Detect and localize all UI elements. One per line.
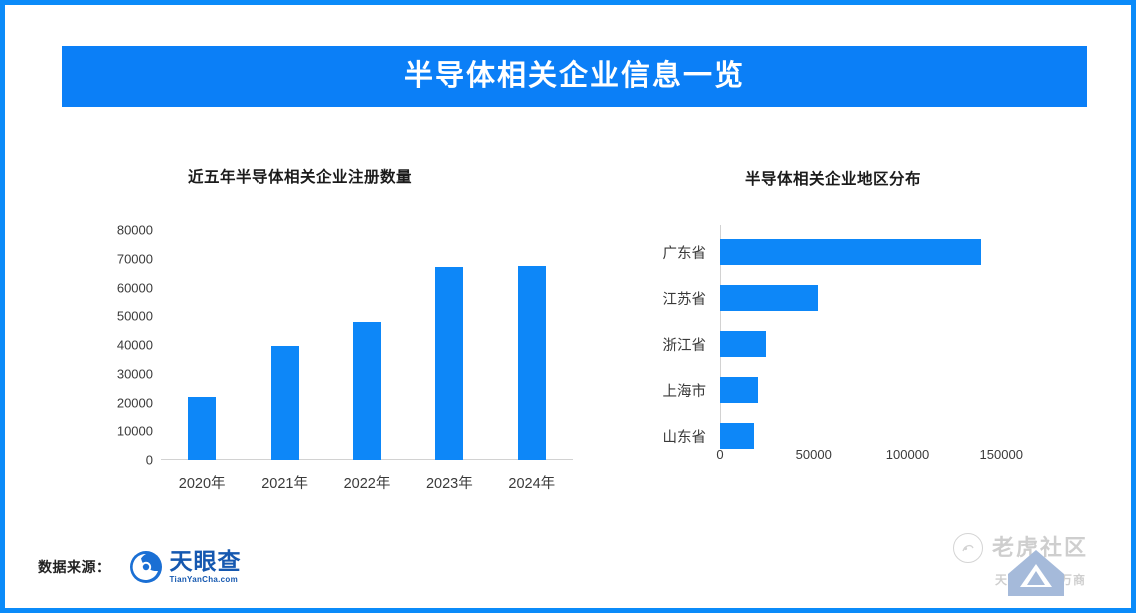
vbar-x-tick-label: 2023年 <box>426 472 473 493</box>
right-chart-title: 半导体相关企业地区分布 <box>745 167 921 189</box>
hbar-row: 上海市 <box>720 377 758 403</box>
vbar-y-tick-label: 40000 <box>117 338 153 353</box>
hbar-x-tick-label: 50000 <box>796 447 832 462</box>
vbar-rect <box>188 397 216 460</box>
hbar-category-label: 上海市 <box>663 380 707 401</box>
vbar-column: 2020年 <box>161 230 243 460</box>
hbar-category-label: 江苏省 <box>663 288 707 309</box>
vbar-column: 2021年 <box>243 230 325 460</box>
infographic-slide: 半导体相关企业信息一览 近五年半导体相关企业注册数量 8000070000600… <box>0 0 1136 613</box>
hbar-row: 山东省 <box>720 423 754 449</box>
vertical-bar-plot-area: 8000070000600005000040000300002000010000… <box>161 230 573 460</box>
tianyancha-name-cn: 天眼查 <box>170 550 242 573</box>
vbar-rect <box>518 266 546 460</box>
vbar-y-tick-label: 30000 <box>117 366 153 381</box>
registration-count-chart-panel: 近五年半导体相关企业注册数量 8000070000600005000040000… <box>65 145 585 505</box>
vbar-column: 2022年 <box>326 230 408 460</box>
page-title: 半导体相关企业信息一览 <box>404 62 745 91</box>
hbar-x-tick-label: 100000 <box>886 447 929 462</box>
vbar-y-tick-label: 70000 <box>117 251 153 266</box>
watermark-badge-icon <box>1005 547 1067 599</box>
vbar-y-tick-label: 10000 <box>117 424 153 439</box>
watermark-circle-icon <box>953 533 983 563</box>
region-distribution-chart-panel: 半导体相关企业地区分布 广东省江苏省浙江省上海市山东省 050000100000… <box>605 145 1085 505</box>
vbar-y-tick-label: 60000 <box>117 280 153 295</box>
vbar-rect <box>353 322 381 460</box>
vbar-rect <box>271 346 299 460</box>
vbar-column: 2023年 <box>408 230 490 460</box>
hbar-rect <box>720 377 758 403</box>
tianyancha-name-en: TianYanCha.com <box>170 576 242 584</box>
vbar-y-tick-label: 20000 <box>117 395 153 410</box>
eye-lens-icon <box>129 550 163 584</box>
hbar-rect <box>720 331 766 357</box>
vbar-x-tick-label: 2021年 <box>261 472 308 493</box>
hbar-row: 浙江省 <box>720 331 766 357</box>
vbar-x-tick-label: 2024年 <box>508 472 555 493</box>
vbar-rect <box>435 267 463 460</box>
hbar-row: 江苏省 <box>720 285 818 311</box>
left-chart-title: 近五年半导体相关企业注册数量 <box>188 165 412 187</box>
vbar-y-tick-label: 80000 <box>117 223 153 238</box>
hbar-rect <box>720 285 818 311</box>
hbar-rect <box>720 239 981 265</box>
tianyancha-wordmark: 天眼查 TianYanCha.com <box>170 550 242 584</box>
title-banner: 半导体相关企业信息一览 <box>62 46 1087 107</box>
horizontal-bar-plot-area: 广东省江苏省浙江省上海市山东省 050000100000150000 <box>720 235 1020 435</box>
hbar-row: 广东省 <box>720 239 981 265</box>
vbar-y-tick-label: 0 <box>146 453 153 468</box>
hbar-category-label: 浙江省 <box>663 334 707 355</box>
hbar-category-label: 广东省 <box>663 242 707 263</box>
vbar-y-tick-label: 50000 <box>117 309 153 324</box>
vbar-x-tick-label: 2022年 <box>344 472 391 493</box>
data-source-block: 数据来源： 天眼查 TianYanCha.com <box>38 550 242 584</box>
vbar-column: 2024年 <box>491 230 573 460</box>
hbar-category-label: 山东省 <box>663 426 707 447</box>
watermark: 老虎社区 天眼查助力万商 <box>953 533 1128 605</box>
tianyancha-logo: 天眼查 TianYanCha.com <box>129 550 242 584</box>
hbar-x-tick-label: 150000 <box>980 447 1023 462</box>
hbar-x-tick-label: 0 <box>716 447 723 462</box>
hbar-rect <box>720 423 754 449</box>
data-source-label: 数据来源： <box>38 557 111 577</box>
vbar-x-tick-label: 2020年 <box>179 472 226 493</box>
